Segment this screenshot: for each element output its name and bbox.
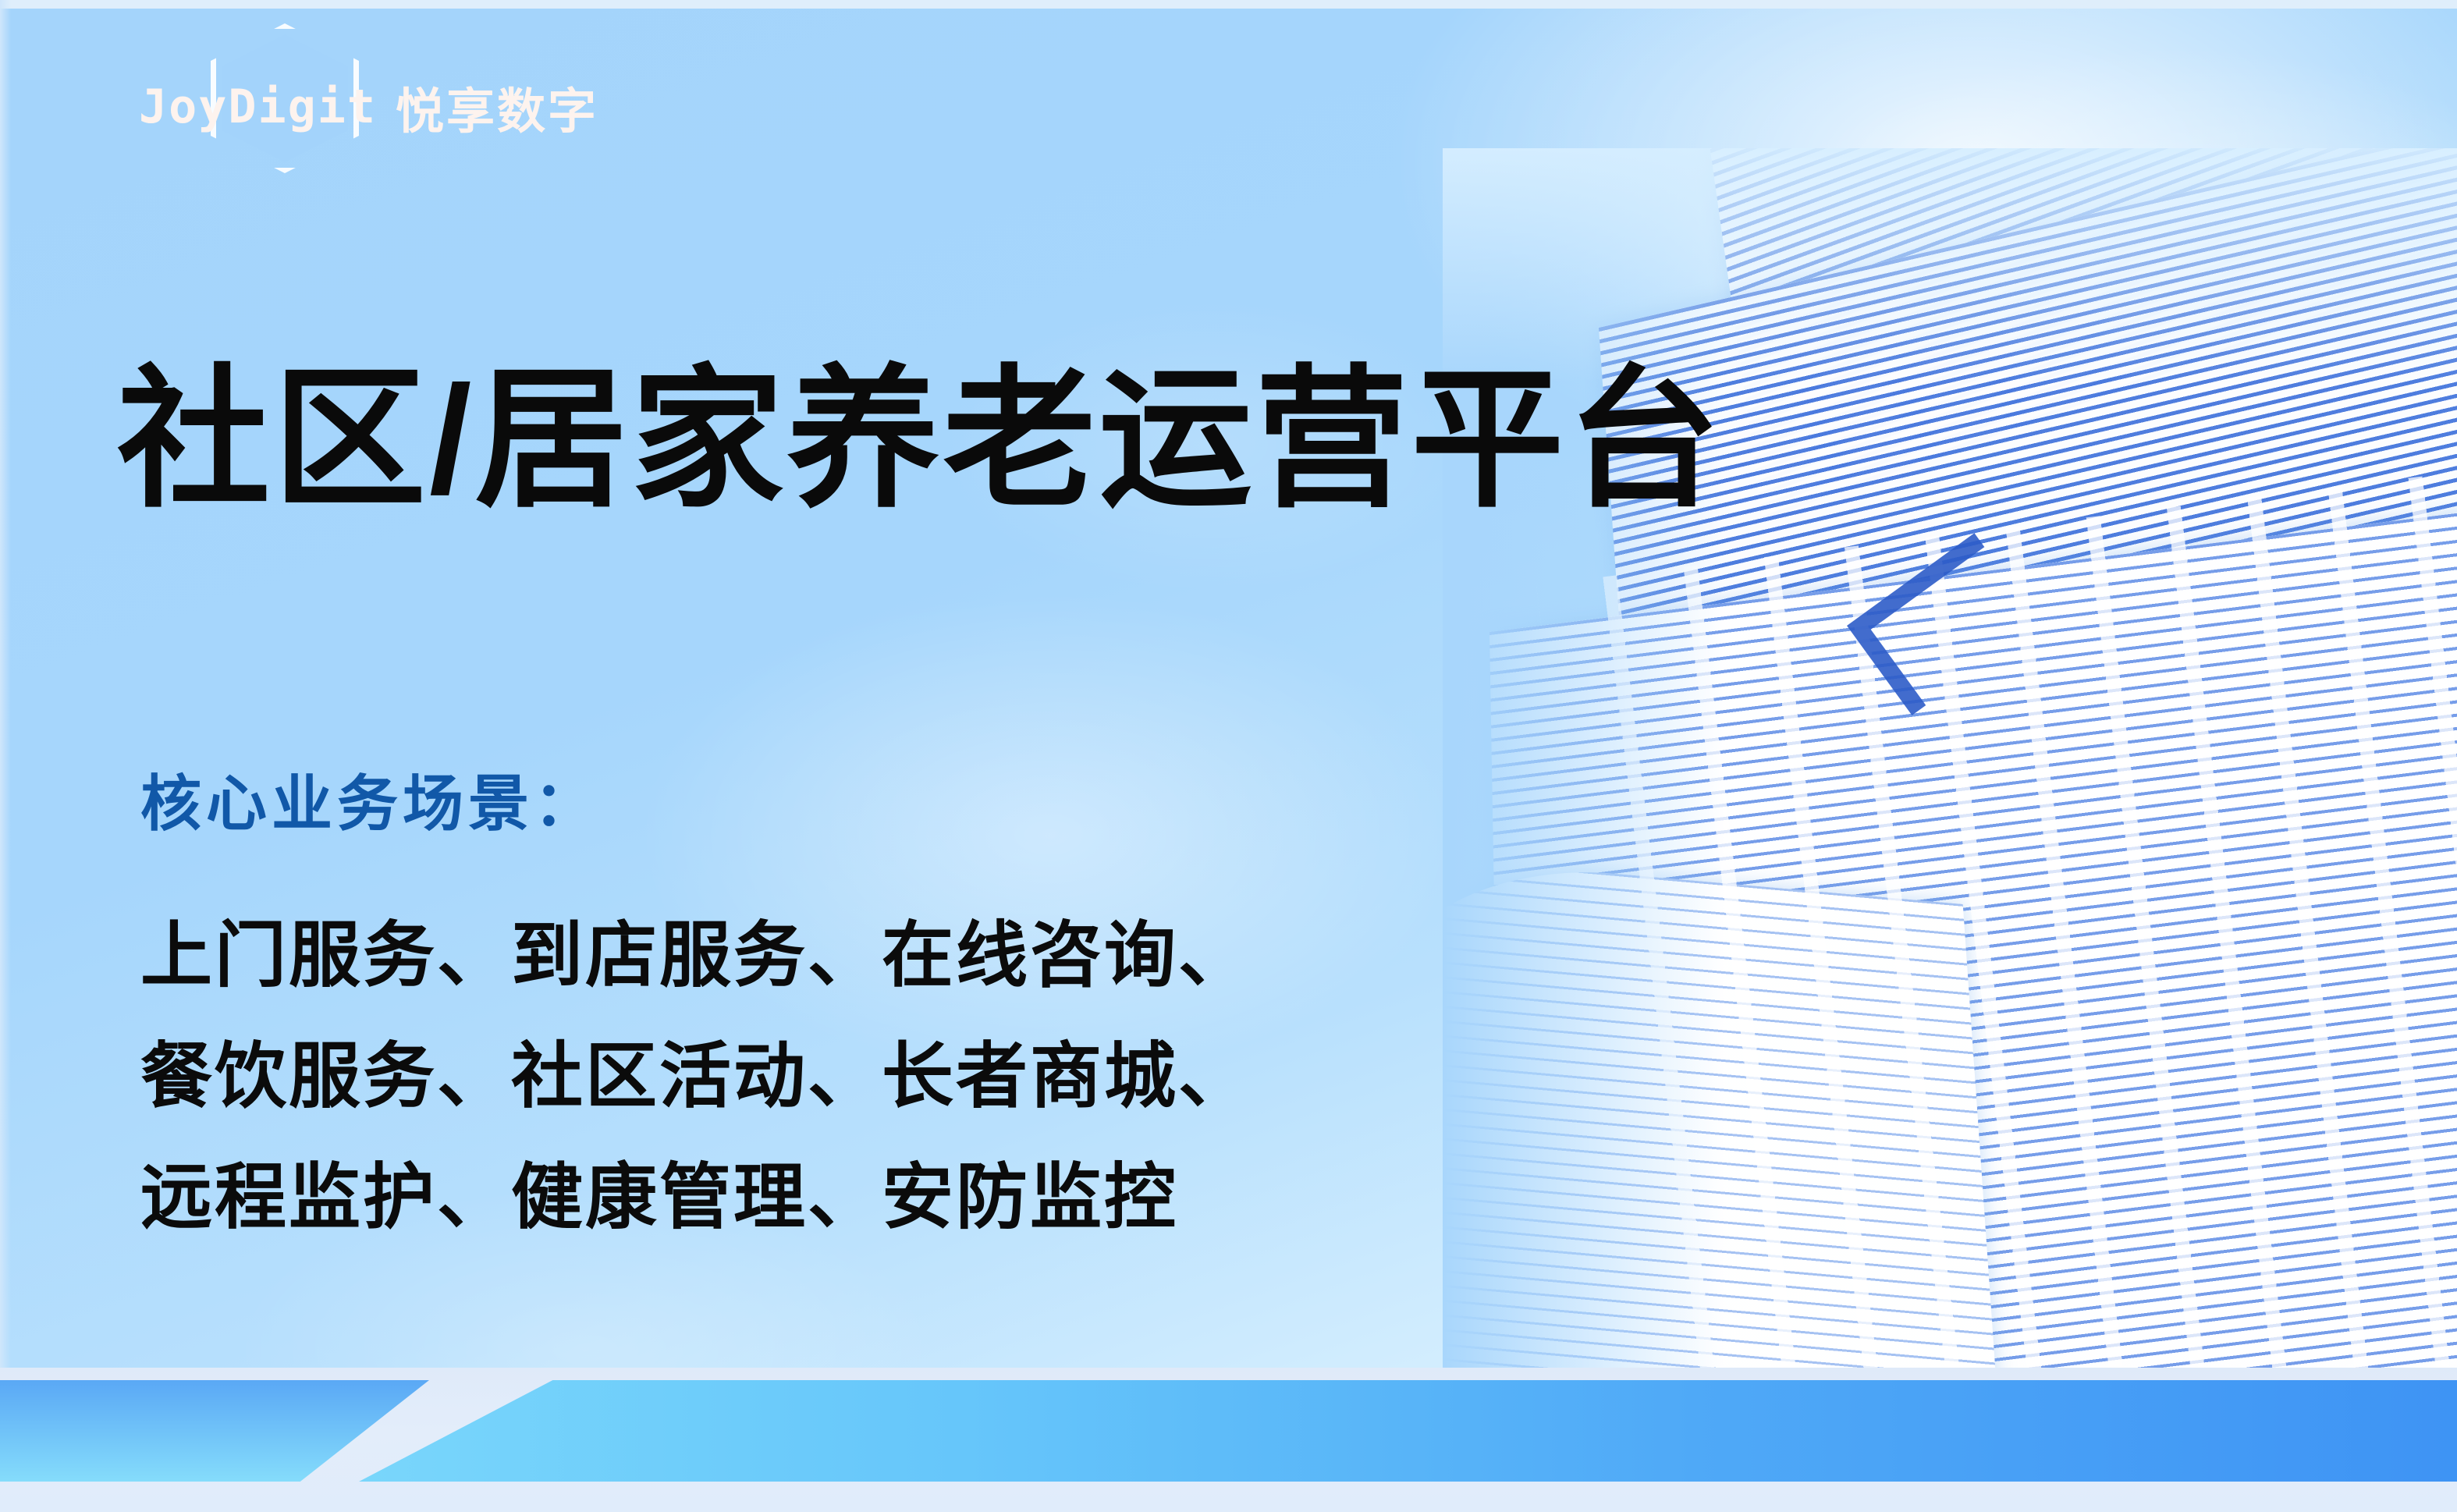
skyscraper-photo xyxy=(1443,148,2457,1397)
brand-logo[interactable]: JoyDigit 悦享数字 xyxy=(139,72,598,142)
page-title: 社区/居家养老运营平台 xyxy=(117,360,1723,520)
brand-logo-cn: 悦享数字 xyxy=(396,72,598,142)
scene-line: 上门服务、到店服务、在线咨询、 xyxy=(140,897,1252,1001)
top-edge-strip xyxy=(0,0,2457,9)
core-scenes-block: 核心业务场景： 上门服务、到店服务、在线咨询、 餐饮服务、社区活动、长者商城、 … xyxy=(140,755,1252,1260)
tower-curved-facade xyxy=(1443,850,2011,1397)
brand-logo-en: JoyDigit xyxy=(139,80,377,134)
scene-line: 餐饮服务、社区活动、长者商城、 xyxy=(140,1018,1252,1122)
banner-left-parallelogram xyxy=(0,1380,429,1482)
bottom-banner xyxy=(0,1368,2457,1512)
slide-canvas: JoyDigit 悦享数字 社区/居家养老运营平台 核心业务场景： 上门服务、到… xyxy=(0,0,2457,1512)
banner-right-parallelogram xyxy=(359,1380,2457,1482)
scene-line: 远程监护、健康管理、安防监控 xyxy=(140,1139,1252,1243)
core-scenes-heading: 核心业务场景： xyxy=(140,755,1252,843)
